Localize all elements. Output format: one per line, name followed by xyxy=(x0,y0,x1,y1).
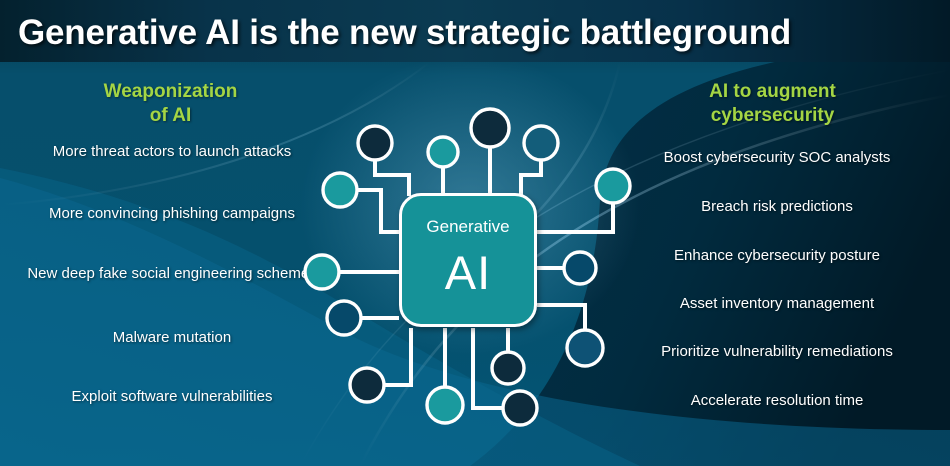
right-heading-line1: AI to augment xyxy=(660,80,885,104)
left-heading-line1: Weaponization xyxy=(58,80,283,104)
left-column-heading: Weaponization of AI xyxy=(58,80,283,128)
list-item: Asset inventory management xyxy=(612,294,942,313)
list-item: Breach risk predictions xyxy=(612,197,942,216)
page-title: Generative AI is the new strategic battl… xyxy=(18,13,791,53)
center-node-main-label: AI xyxy=(445,249,491,296)
list-item: Enhance cybersecurity posture xyxy=(612,246,942,265)
center-node-generative-ai: Generative AI xyxy=(399,193,537,327)
slide-canvas: Generative AI is the new strategic battl… xyxy=(0,0,950,466)
left-heading-line2: of AI xyxy=(58,104,283,128)
list-item: New deep fake social engineering schemes xyxy=(12,264,332,283)
list-item: More convincing phishing campaigns xyxy=(12,204,332,223)
list-item: More threat actors to launch attacks xyxy=(12,142,332,161)
list-item: Prioritize vulnerability remediations xyxy=(612,342,942,361)
right-heading-line2: cybersecurity xyxy=(660,104,885,128)
list-item: Boost cybersecurity SOC analysts xyxy=(612,148,942,167)
right-column-heading: AI to augment cybersecurity xyxy=(660,80,885,128)
list-item: Accelerate resolution time xyxy=(612,391,942,410)
list-item: Exploit software vulnerabilities xyxy=(12,387,332,406)
center-node-top-label: Generative xyxy=(426,218,509,235)
list-item: Malware mutation xyxy=(12,328,332,347)
